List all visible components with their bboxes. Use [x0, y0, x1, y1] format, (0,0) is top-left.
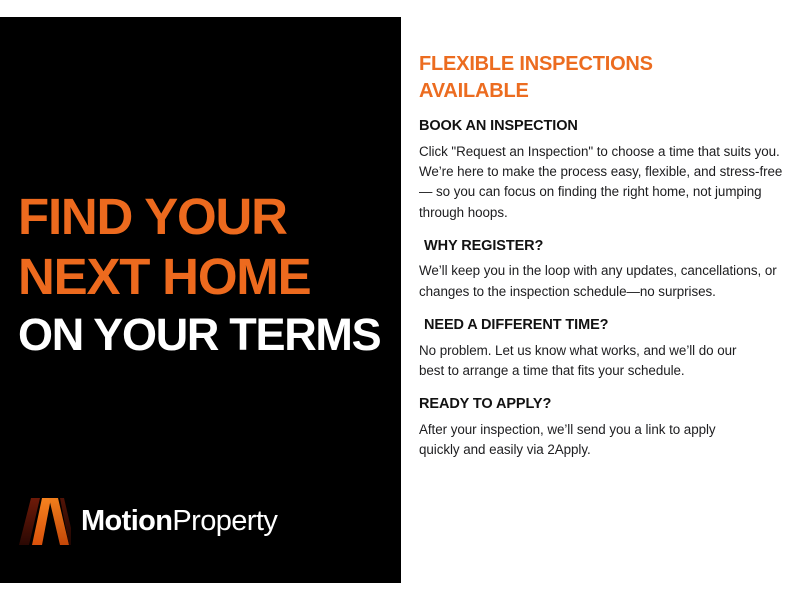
hero-headline: FIND YOUR NEXT HOME ON YOUR TERMS: [18, 192, 390, 357]
motion-property-m-logo: [19, 498, 71, 545]
section-need-a-different-time: NEED A DIFFERENT TIME? No problem. Let u…: [419, 317, 794, 381]
brand-name-light: Property: [172, 505, 277, 537]
section-heading-need-a-different-time: NEED A DIFFERENT TIME?: [419, 317, 794, 334]
section-body-book-an-inspection: Click "Request an Inspection" to choose …: [419, 142, 791, 224]
panel-title: FLEXIBLE INSPECTIONS AVAILABLE: [419, 0, 691, 104]
section-body-why-register: We’ll keep you in the loop with any upda…: [419, 261, 781, 302]
section-body-need-a-different-time: No problem. Let us know what works, and …: [419, 341, 749, 382]
section-heading-book-an-inspection: BOOK AN INSPECTION: [419, 118, 794, 135]
headline-line-3: ON YOUR TERMS: [18, 313, 390, 357]
section-heading-ready-to-apply: READY TO APPLY?: [419, 396, 794, 413]
section-body-ready-to-apply: After your inspection, we’ll send you a …: [419, 420, 749, 461]
brand-logo: MotionProperty: [19, 498, 277, 545]
brand-name: MotionProperty: [81, 507, 277, 536]
section-heading-why-register: WHY REGISTER?: [419, 238, 794, 255]
promo-page: FIND YOUR NEXT HOME ON YOUR TERMS: [0, 0, 800, 600]
headline-line-1: FIND YOUR: [18, 192, 390, 241]
section-why-register: WHY REGISTER? We’ll keep you in the loop…: [419, 238, 794, 302]
section-ready-to-apply: READY TO APPLY? After your inspection, w…: [419, 396, 794, 460]
hero-panel: FIND YOUR NEXT HOME ON YOUR TERMS: [0, 17, 401, 583]
section-book-an-inspection: BOOK AN INSPECTION Click "Request an Ins…: [419, 118, 794, 223]
brand-name-bold: Motion: [81, 505, 172, 537]
headline-line-2: NEXT HOME: [18, 252, 390, 301]
info-panel: FLEXIBLE INSPECTIONS AVAILABLE BOOK AN I…: [419, 0, 794, 600]
